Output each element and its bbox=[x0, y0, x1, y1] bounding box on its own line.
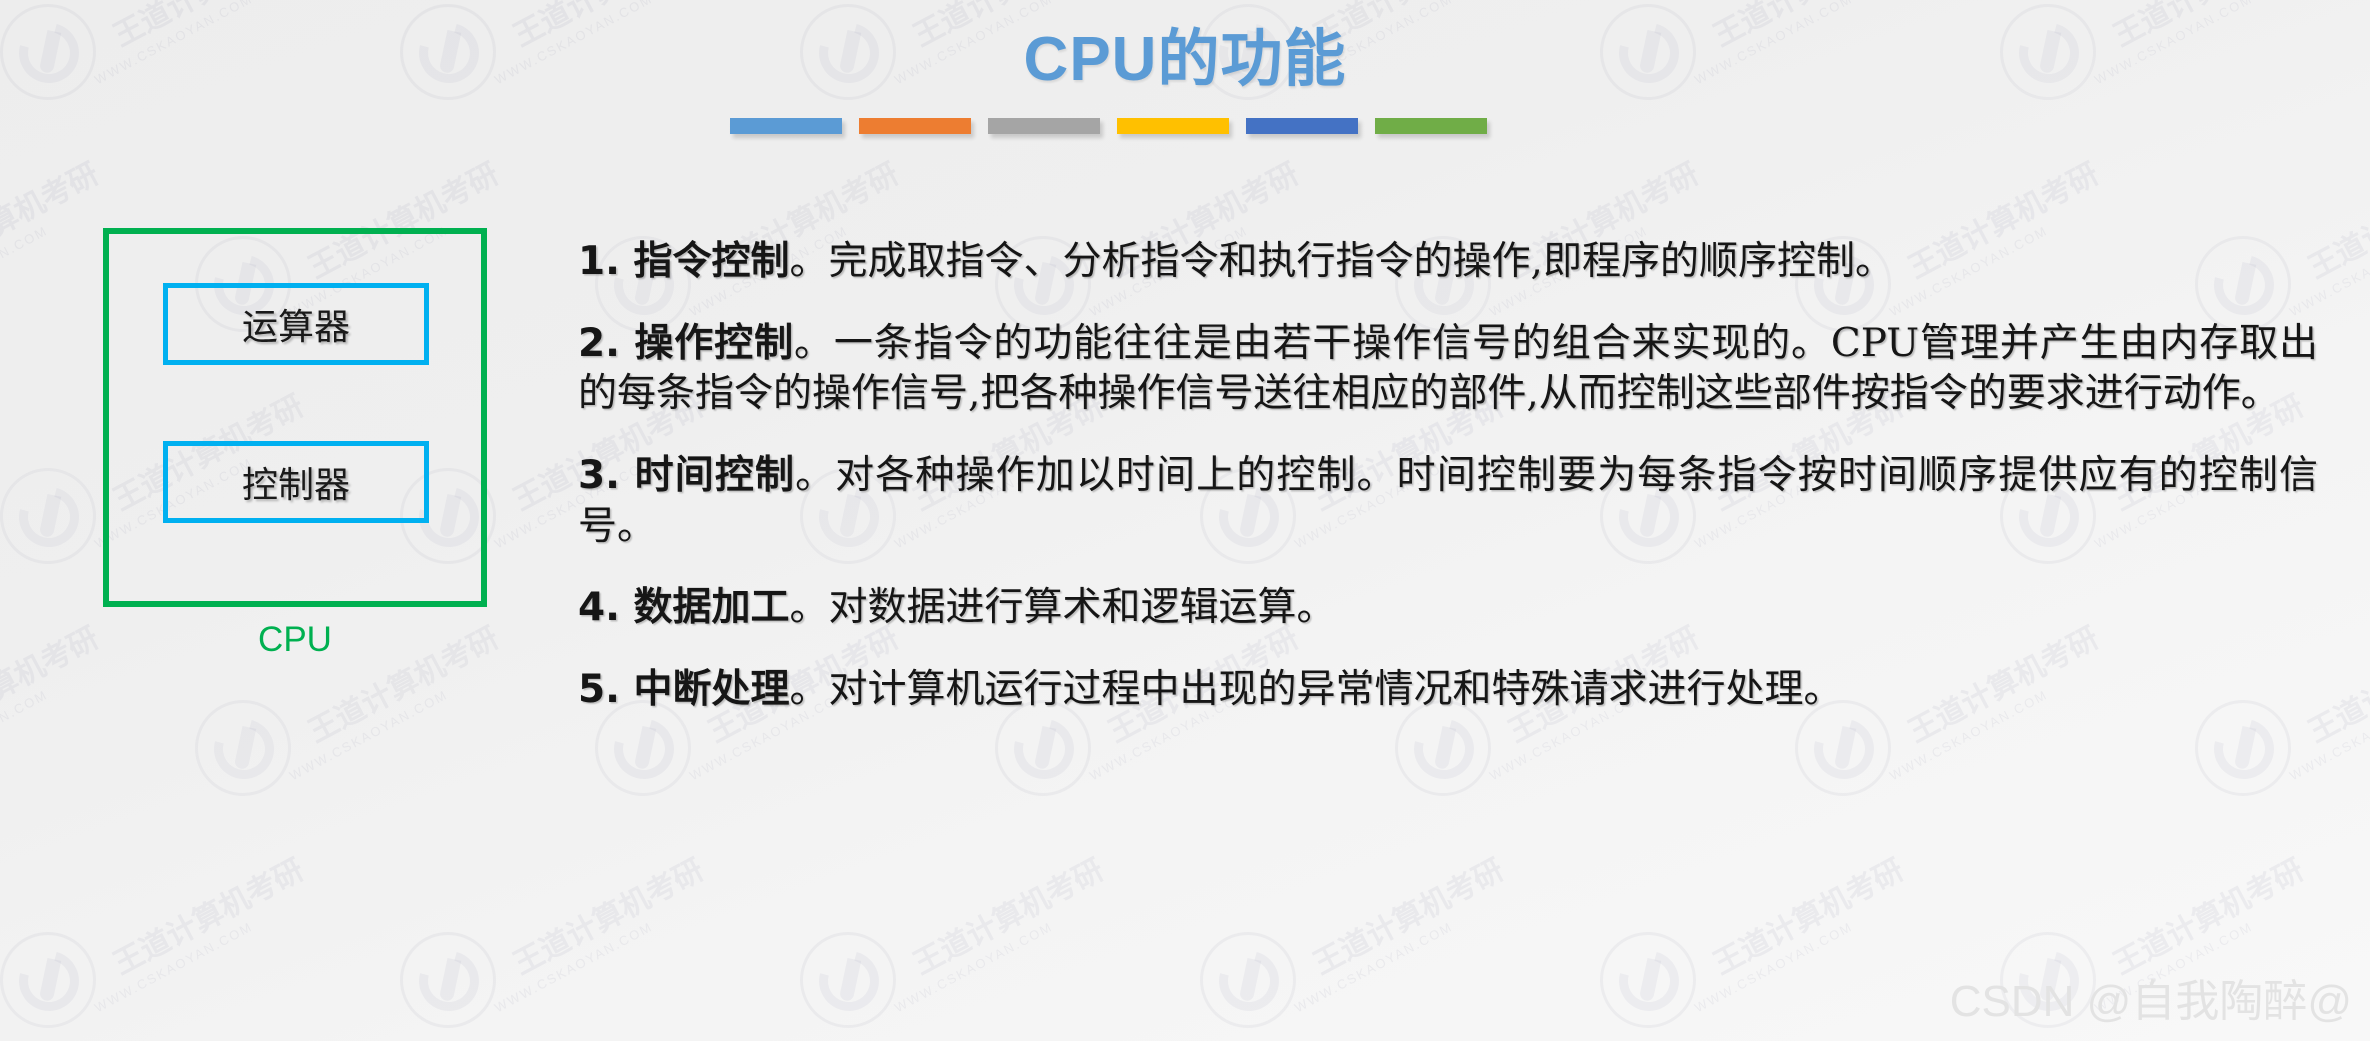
divider-segment-gray bbox=[988, 118, 1100, 134]
brand-logo-icon bbox=[0, 932, 96, 1028]
brand-watermark-text: 王道计算机考研 bbox=[1304, 845, 1510, 982]
function-item-keyword: 操作控制 bbox=[634, 320, 794, 366]
function-item-number: 2. bbox=[578, 321, 634, 366]
csdn-watermark: CSDN @自我陶醉@ bbox=[1950, 965, 2352, 1029]
brand-watermark-text: 王道计算机考研 bbox=[504, 845, 710, 982]
brand-watermark-url: WWW.CSKAOYAN.COM bbox=[0, 687, 50, 783]
function-item-keyword: 指令控制 bbox=[634, 238, 790, 284]
brand-watermark-url: WWW.CSKAOYAN.COM bbox=[892, 919, 1055, 1015]
brand-watermark-url: WWW.CSKAOYAN.COM bbox=[92, 919, 255, 1015]
brand-watermark: 王道计算机考研WWW.CSKAOYAN.COM bbox=[800, 928, 1100, 1038]
slide-canvas: 王道计算机考研WWW.CSKAOYAN.COM王道计算机考研WWW.CSKAOY… bbox=[0, 0, 2370, 1041]
brand-watermark: 王道计算机考研WWW.CSKAOYAN.COM bbox=[0, 232, 95, 342]
divider-segment-orange bbox=[859, 118, 971, 134]
brand-watermark-text: 王道计算机考研 bbox=[2104, 845, 2310, 982]
function-item: 3. 时间控制。对各种操作加以时间上的控制。时间控制要为每条指令按时间顺序提供应… bbox=[578, 450, 2318, 552]
divider-segment-indigo bbox=[1246, 118, 1358, 134]
function-item-keyword: 中断处理 bbox=[634, 666, 790, 712]
function-list: 1. 指令控制。完成取指令、分析指令和执行指令的操作,即程序的顺序控制。2. 操… bbox=[578, 236, 2318, 746]
function-item: 1. 指令控制。完成取指令、分析指令和执行指令的操作,即程序的顺序控制。 bbox=[578, 236, 2318, 288]
divider-segment-yellow bbox=[1117, 118, 1229, 134]
brand-watermark-text: 王道计算机考研 bbox=[1704, 845, 1910, 982]
function-item: 5. 中断处理。对计算机运行过程中出现的异常情况和特殊请求进行处理。 bbox=[578, 664, 2318, 716]
brand-watermark: 王道计算机考研WWW.CSKAOYAN.COM bbox=[0, 928, 300, 1038]
brand-watermark: 王道计算机考研WWW.CSKAOYAN.COM bbox=[1200, 928, 1500, 1038]
cpu-component-controller: 控制器 bbox=[163, 441, 429, 523]
brand-watermark: 王道计算机考研WWW.CSKAOYAN.COM bbox=[195, 696, 495, 806]
function-item-number: 5. bbox=[578, 667, 634, 712]
brand-watermark-text: 王道计算机考研 bbox=[0, 613, 105, 750]
function-item-text: 。对各种操作加以时间上的控制。时间控制要为每条指令按时间顺序提供应有的控制信号。 bbox=[578, 453, 2318, 549]
brand-watermark: 王道计算机考研WWW.CSKAOYAN.COM bbox=[400, 928, 700, 1038]
cpu-component-controller-label: 控制器 bbox=[242, 456, 350, 508]
brand-watermark-url: WWW.CSKAOYAN.COM bbox=[1292, 919, 1455, 1015]
function-item-number: 4. bbox=[578, 585, 634, 630]
function-item: 4. 数据加工。对数据进行算术和逻辑运算。 bbox=[578, 582, 2318, 634]
brand-logo-icon bbox=[800, 932, 896, 1028]
divider-segment-green bbox=[1375, 118, 1487, 134]
brand-logo-icon bbox=[0, 468, 96, 564]
function-item-text: 。对计算机运行过程中出现的异常情况和特殊请求进行处理。 bbox=[790, 667, 1843, 712]
brand-watermark-url: WWW.CSKAOYAN.COM bbox=[0, 223, 50, 319]
function-item-keyword: 时间控制 bbox=[635, 452, 795, 498]
function-item-text: 。对数据进行算术和逻辑运算。 bbox=[790, 585, 1336, 630]
brand-logo-icon bbox=[400, 932, 496, 1028]
brand-watermark-url: WWW.CSKAOYAN.COM bbox=[1692, 919, 1855, 1015]
cpu-component-alu: 运算器 bbox=[163, 283, 429, 365]
brand-watermark-text: 王道计算机考研 bbox=[104, 845, 310, 982]
brand-logo-icon bbox=[1200, 932, 1296, 1028]
cpu-component-alu-label: 运算器 bbox=[242, 298, 350, 350]
function-item-number: 1. bbox=[578, 239, 634, 284]
cpu-outer-box: 运算器 控制器 bbox=[103, 228, 487, 607]
brand-watermark: 王道计算机考研WWW.CSKAOYAN.COM bbox=[0, 696, 95, 806]
divider-segment-blue bbox=[730, 118, 842, 134]
title-divider bbox=[730, 118, 1487, 134]
brand-watermark-url: WWW.CSKAOYAN.COM bbox=[287, 687, 450, 783]
function-item: 2. 操作控制。一条指令的功能往往是由若干操作信号的组合来实现的。CPU管理并产… bbox=[578, 318, 2318, 420]
cpu-diagram-caption: CPU bbox=[103, 620, 487, 660]
function-item-text: 。一条指令的功能往往是由若干操作信号的组合来实现的。CPU管理并产生由内存取出的… bbox=[578, 321, 2318, 417]
page-title: CPU的功能 bbox=[0, 8, 2370, 98]
function-item-text: 。完成取指令、分析指令和执行指令的操作,即程序的顺序控制。 bbox=[790, 239, 1894, 284]
brand-watermark-text: 王道计算机考研 bbox=[904, 845, 1110, 982]
brand-watermark: 王道计算机考研WWW.CSKAOYAN.COM bbox=[1600, 928, 1900, 1038]
function-item-number: 3. bbox=[578, 453, 635, 498]
brand-logo-icon bbox=[195, 700, 291, 796]
brand-watermark-text: 王道计算机考研 bbox=[0, 149, 105, 286]
function-item-keyword: 数据加工 bbox=[634, 584, 790, 630]
brand-logo-icon bbox=[1600, 932, 1696, 1028]
brand-watermark-url: WWW.CSKAOYAN.COM bbox=[492, 919, 655, 1015]
